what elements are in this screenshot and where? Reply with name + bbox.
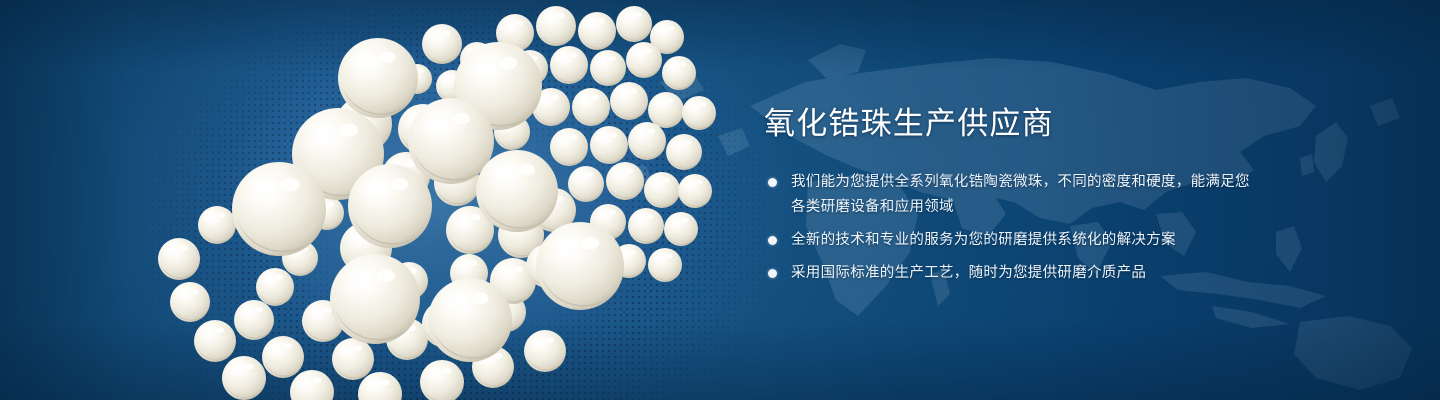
- list-item-label: 全新的技术和专业的服务为您的研磨提供系统化的解决方案: [791, 232, 1176, 248]
- feature-list: 我们能为您提供全系列氧化锆陶瓷微珠，不同的密度和硬度，能满足您各类研磨设备和应用…: [764, 170, 1264, 286]
- bullet-dot-icon: [768, 236, 777, 245]
- list-item: 我们能为您提供全系列氧化锆陶瓷微珠，不同的密度和硬度，能满足您各类研磨设备和应用…: [764, 170, 1264, 220]
- bullet-dot-icon: [768, 269, 777, 278]
- banner-copy: 氧化锆珠生产供应商 我们能为您提供全系列氧化锆陶瓷微珠，不同的密度和硬度，能满足…: [764, 104, 1264, 286]
- hero-banner: 氧化锆珠生产供应商 我们能为您提供全系列氧化锆陶瓷微珠，不同的密度和硬度，能满足…: [0, 0, 1440, 400]
- list-item-label: 我们能为您提供全系列氧化锆陶瓷微珠，不同的密度和硬度，能满足您各类研磨设备和应用…: [791, 174, 1250, 215]
- list-item: 全新的技术和专业的服务为您的研磨提供系统化的解决方案: [764, 228, 1264, 253]
- list-item-label: 采用国际标准的生产工艺，随时为您提供研磨介质产品: [791, 265, 1146, 281]
- list-item: 采用国际标准的生产工艺，随时为您提供研磨介质产品: [764, 261, 1264, 286]
- bullet-dot-icon: [768, 178, 777, 187]
- page-title: 氧化锆珠生产供应商: [764, 104, 1264, 144]
